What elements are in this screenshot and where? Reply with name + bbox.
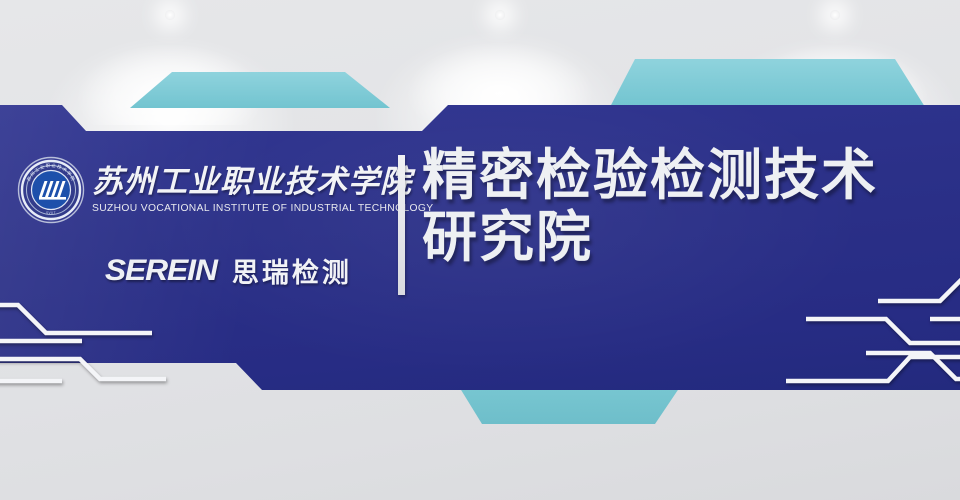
spot-right-source bbox=[830, 10, 840, 20]
teal-accent-top-left bbox=[130, 72, 390, 108]
spot-center-source bbox=[495, 10, 505, 20]
brand-name-cn: 思瑞检测 bbox=[232, 251, 352, 290]
spot-left-source bbox=[165, 10, 175, 20]
headline-line-1: 精密检验检测技术 bbox=[422, 145, 942, 207]
page-title: 精密检验检测技术 研究院 bbox=[422, 145, 942, 268]
school-crest-icon: 苏州工业职业技术学院 SVIIT bbox=[16, 155, 86, 225]
teal-accent-top-center bbox=[610, 59, 925, 107]
headline-line-2: 研究院 bbox=[422, 207, 942, 269]
school-identity-row: 苏州工业职业技术学院 SVIIT 苏州工业职业技术学院 bbox=[16, 155, 396, 225]
brand-name-en: SEREIN bbox=[105, 254, 217, 288]
institution-logo-block: 苏州工业职业技术学院 SVIIT 苏州工业职业技术学院 bbox=[16, 155, 396, 290]
spot-center bbox=[400, 0, 600, 120]
board-content: 苏州工业职业技术学院 SVIIT 苏州工业职业技术学院 bbox=[0, 105, 960, 390]
school-name-group: 苏州工业职业技术学院 SUZHOU VOCATIONAL INSTITUTE O… bbox=[92, 166, 433, 215]
school-name-cn: 苏州工业职业技术学院 bbox=[92, 166, 433, 199]
school-name-en: SUZHOU VOCATIONAL INSTITUTE OF INDUSTRIA… bbox=[92, 203, 433, 214]
vertical-divider bbox=[398, 155, 405, 295]
signage-scene: 苏州工业职业技术学院 SVIIT 苏州工业职业技术学院 bbox=[0, 0, 960, 500]
partner-brand-row: SEREIN 思瑞检测 bbox=[16, 251, 396, 290]
spot-center-glow bbox=[400, 0, 600, 120]
svg-text:SVIIT: SVIIT bbox=[46, 211, 56, 215]
